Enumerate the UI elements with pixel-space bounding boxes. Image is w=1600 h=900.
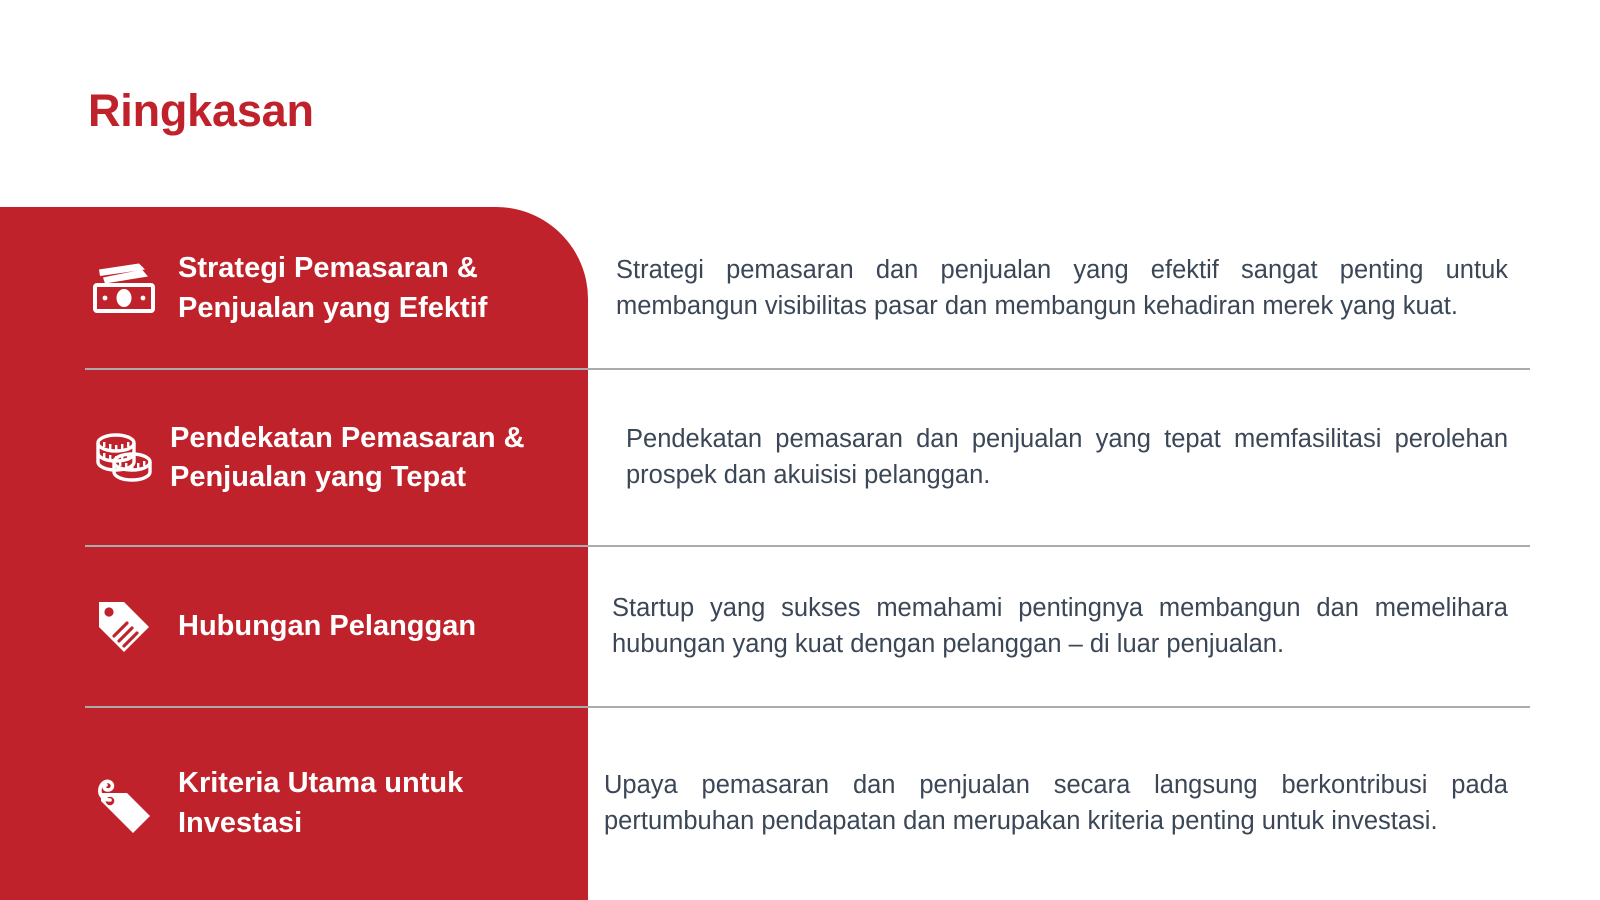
coins-stack-icon: [78, 431, 170, 485]
row-label: Strategi Pemasaran & Penjualan yang Efek…: [170, 249, 588, 328]
row-label: Hubungan Pelanggan: [170, 607, 588, 646]
price-tag-string-icon: [78, 775, 170, 833]
row-label-cell: Strategi Pemasaran & Penjualan yang Efek…: [0, 207, 588, 370]
row-label-cell: Kriteria Utama untuk Investasi: [0, 707, 588, 900]
summary-row: Kriteria Utama untuk Investasi Upaya pem…: [0, 707, 1600, 900]
summary-row: Hubungan Pelanggan Startup yang sukses m…: [0, 546, 1600, 707]
summary-row: Strategi Pemasaran & Penjualan yang Efek…: [0, 207, 1600, 370]
row-label: Kriteria Utama untuk Investasi: [170, 764, 588, 843]
row-divider: [85, 706, 1530, 708]
page-title: Ringkasan: [88, 86, 314, 136]
row-body: Strategi pemasaran dan penjualan yang ef…: [588, 253, 1600, 324]
summary-slide: Ringkasan Strategi: [0, 0, 1600, 900]
row-label-cell: Hubungan Pelanggan: [0, 546, 588, 707]
row-label: Pendekatan Pemasaran & Penjualan yang Te…: [170, 419, 588, 498]
row-divider: [85, 368, 1530, 370]
row-body: Pendekatan pemasaran dan penjualan yang …: [588, 422, 1600, 493]
row-label-cell: Pendekatan Pemasaran & Penjualan yang Te…: [0, 370, 588, 546]
banknote-icon: [78, 263, 170, 315]
summary-rows: Strategi Pemasaran & Penjualan yang Efek…: [0, 207, 1600, 900]
summary-row: Pendekatan Pemasaran & Penjualan yang Te…: [0, 370, 1600, 546]
row-body: Startup yang sukses memahami pentingnya …: [588, 591, 1600, 662]
row-body: Upaya pemasaran dan penjualan secara lan…: [588, 768, 1600, 839]
row-divider: [85, 545, 1530, 547]
price-tag-striped-icon: [78, 599, 170, 655]
